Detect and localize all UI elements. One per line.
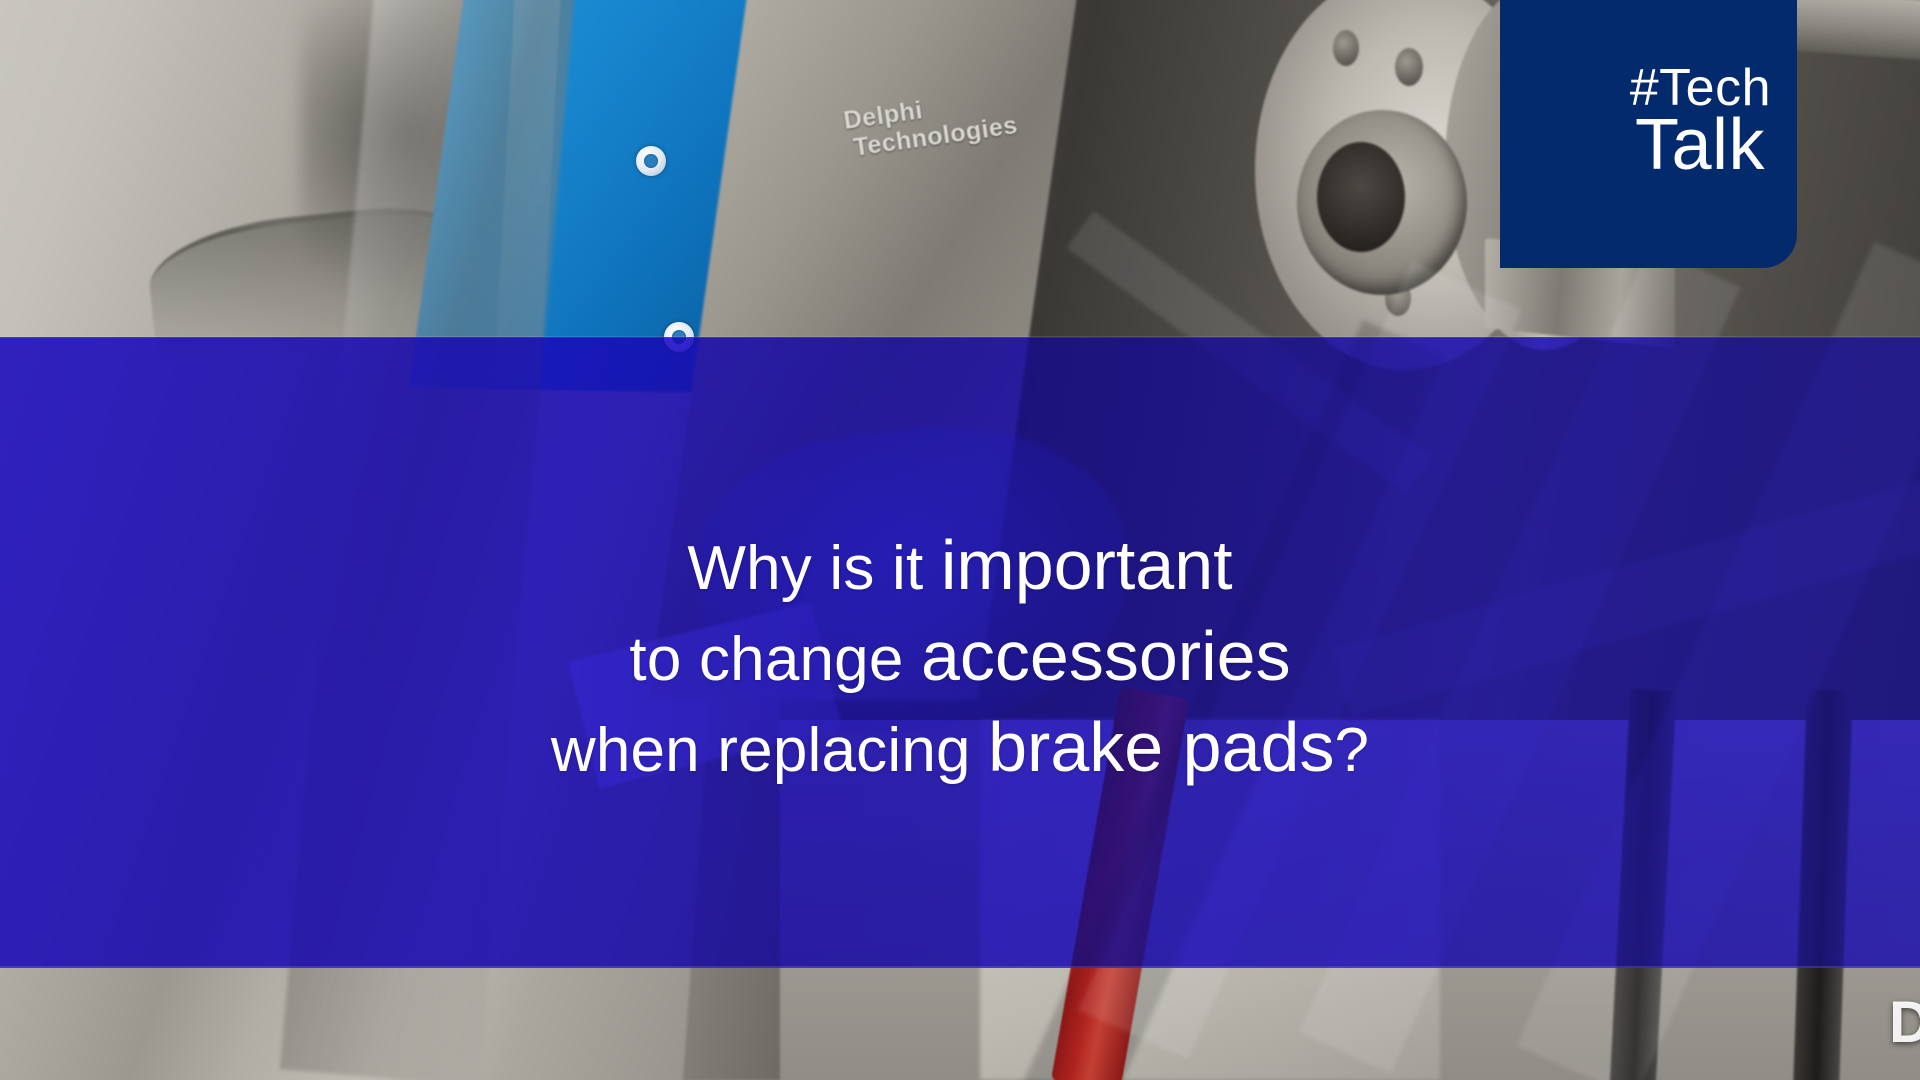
tech-talk-badge: #Tech Talk bbox=[1500, 0, 1797, 268]
headline-line-3-tail: ? bbox=[1334, 716, 1369, 785]
wheel-bolt-hole bbox=[1395, 48, 1423, 86]
headline: Why is it important to change accessorie… bbox=[0, 520, 1920, 793]
headline-line-2: to change accessories bbox=[0, 611, 1920, 702]
tech-talk-badge-text: #Tech Talk bbox=[1500, 62, 1771, 181]
delphi-d-watermark: D bbox=[1889, 989, 1920, 1056]
headline-line-2-light: to change bbox=[629, 625, 921, 694]
headline-line-3: when replacing brake pads? bbox=[0, 702, 1920, 793]
headline-line-1: Why is it important bbox=[0, 520, 1920, 611]
band-top-edge bbox=[0, 336, 1920, 338]
hub-bore bbox=[1317, 142, 1405, 252]
headline-line-2-strong: accessories bbox=[921, 617, 1291, 695]
tech-talk-title: Talk bbox=[1500, 110, 1765, 181]
headline-line-1-strong: important bbox=[941, 526, 1233, 604]
shirt-button bbox=[636, 146, 666, 176]
band-bottom-edge bbox=[0, 966, 1920, 968]
headline-line-1-light: Why is it bbox=[687, 534, 940, 603]
headline-line-3-light: when replacing bbox=[551, 716, 988, 785]
wheel-bolt-hole bbox=[1333, 30, 1359, 66]
headline-line-3-strong: brake pads bbox=[988, 708, 1334, 786]
video-frame: Delphi Technologies bbox=[0, 0, 1920, 1080]
